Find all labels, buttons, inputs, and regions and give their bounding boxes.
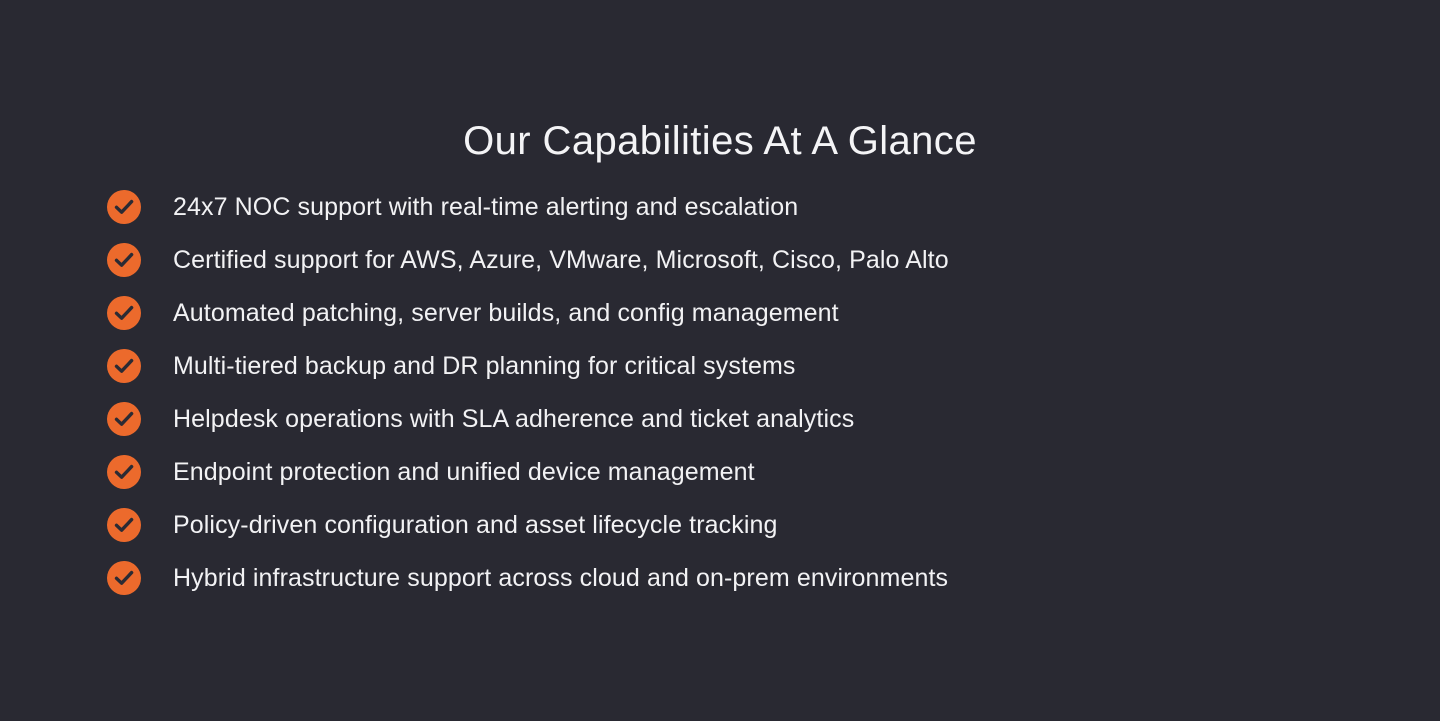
list-item: Automated patching, server builds, and c… xyxy=(107,296,1337,330)
list-item-label: Helpdesk operations with SLA adherence a… xyxy=(173,402,854,436)
list-item-label: Policy-driven configuration and asset li… xyxy=(173,508,778,542)
list-item: Policy-driven configuration and asset li… xyxy=(107,508,1337,542)
list-item: 24x7 NOC support with real-time alerting… xyxy=(107,190,1337,224)
list-item: Hybrid infrastructure support across clo… xyxy=(107,561,1337,595)
list-item: Certified support for AWS, Azure, VMware… xyxy=(107,243,1337,277)
list-item-label: 24x7 NOC support with real-time alerting… xyxy=(173,190,798,224)
capabilities-list: 24x7 NOC support with real-time alerting… xyxy=(107,190,1337,595)
list-item-label: Multi-tiered backup and DR planning for … xyxy=(173,349,796,383)
list-item: Multi-tiered backup and DR planning for … xyxy=(107,349,1337,383)
capabilities-slide: Our Capabilities At A Glance 24x7 NOC su… xyxy=(0,0,1440,721)
list-item: Endpoint protection and unified device m… xyxy=(107,455,1337,489)
check-circle-icon xyxy=(107,402,141,436)
check-circle-icon xyxy=(107,243,141,277)
check-circle-icon xyxy=(107,508,141,542)
check-circle-icon xyxy=(107,455,141,489)
list-item: Helpdesk operations with SLA adherence a… xyxy=(107,402,1337,436)
page-title: Our Capabilities At A Glance xyxy=(0,115,1440,167)
list-item-label: Automated patching, server builds, and c… xyxy=(173,296,839,330)
list-item-label: Certified support for AWS, Azure, VMware… xyxy=(173,243,949,277)
check-circle-icon xyxy=(107,190,141,224)
check-circle-icon xyxy=(107,561,141,595)
check-circle-icon xyxy=(107,349,141,383)
list-item-label: Hybrid infrastructure support across clo… xyxy=(173,561,948,595)
check-circle-icon xyxy=(107,296,141,330)
list-item-label: Endpoint protection and unified device m… xyxy=(173,455,755,489)
